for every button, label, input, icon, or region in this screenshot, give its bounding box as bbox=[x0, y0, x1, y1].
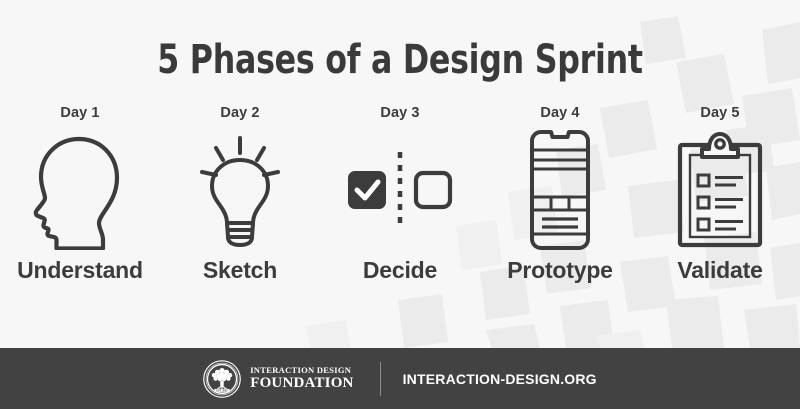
phase-label-3: Decide bbox=[363, 257, 437, 283]
phase-label-4: Prototype bbox=[507, 257, 613, 283]
wordmark-line-top: INTERACTION DESIGN bbox=[250, 365, 353, 375]
logo-est-text: EST. 2002 bbox=[217, 389, 229, 392]
phase-column-decide: Day 3 Decid bbox=[320, 104, 480, 314]
phase-column-sketch: Day 2 bbox=[160, 104, 320, 314]
phase-row: Day 1 Understand Day 2 bbox=[0, 104, 800, 314]
lightbulb-icon bbox=[190, 132, 290, 248]
smartphone-wireframe-icon bbox=[525, 130, 595, 250]
phase-column-understand: Day 1 Understand bbox=[0, 104, 160, 314]
footer-brand-group: EST. 2002 INTERACTION DESIGN FOUNDATION … bbox=[203, 360, 597, 398]
day-label-5: Day 5 bbox=[700, 104, 739, 122]
icon-container-prototype bbox=[485, 122, 635, 257]
checkbox-choice-icon bbox=[340, 140, 460, 240]
icon-container-understand bbox=[5, 122, 155, 257]
checked-box-icon bbox=[348, 171, 386, 209]
icon-container-decide bbox=[325, 122, 475, 257]
icon-container-sketch bbox=[165, 122, 315, 257]
footer-bar: EST. 2002 INTERACTION DESIGN FOUNDATION … bbox=[0, 348, 800, 409]
day-label-4: Day 4 bbox=[540, 104, 579, 122]
phase-label-5: Validate bbox=[677, 257, 762, 283]
wordmark-line-bottom: FOUNDATION bbox=[250, 375, 353, 392]
clipboard-checklist-icon bbox=[674, 131, 766, 249]
design-sprint-infographic: 5 Phases of a Design Sprint Day 1 Unders… bbox=[0, 0, 800, 409]
day-label-3: Day 3 bbox=[380, 104, 419, 122]
day-label-1: Day 1 bbox=[60, 104, 99, 122]
unchecked-box-icon bbox=[416, 173, 450, 207]
head-profile-icon bbox=[21, 130, 139, 250]
page-title: 5 Phases of a Design Sprint bbox=[48, 37, 752, 83]
footer-website-url[interactable]: INTERACTION-DESIGN.ORG bbox=[403, 371, 597, 387]
idf-tree-seal-logo: EST. 2002 bbox=[203, 360, 241, 398]
phase-column-prototype: Day 4 bbox=[480, 104, 640, 314]
foundation-wordmark: INTERACTION DESIGN FOUNDATION bbox=[250, 365, 353, 392]
footer-divider bbox=[380, 362, 381, 396]
phase-column-validate: Day 5 bbox=[640, 104, 800, 314]
phase-label-2: Sketch bbox=[203, 257, 277, 283]
phase-label-1: Understand bbox=[17, 257, 143, 283]
day-label-2: Day 2 bbox=[220, 104, 259, 122]
icon-container-validate bbox=[645, 122, 795, 257]
